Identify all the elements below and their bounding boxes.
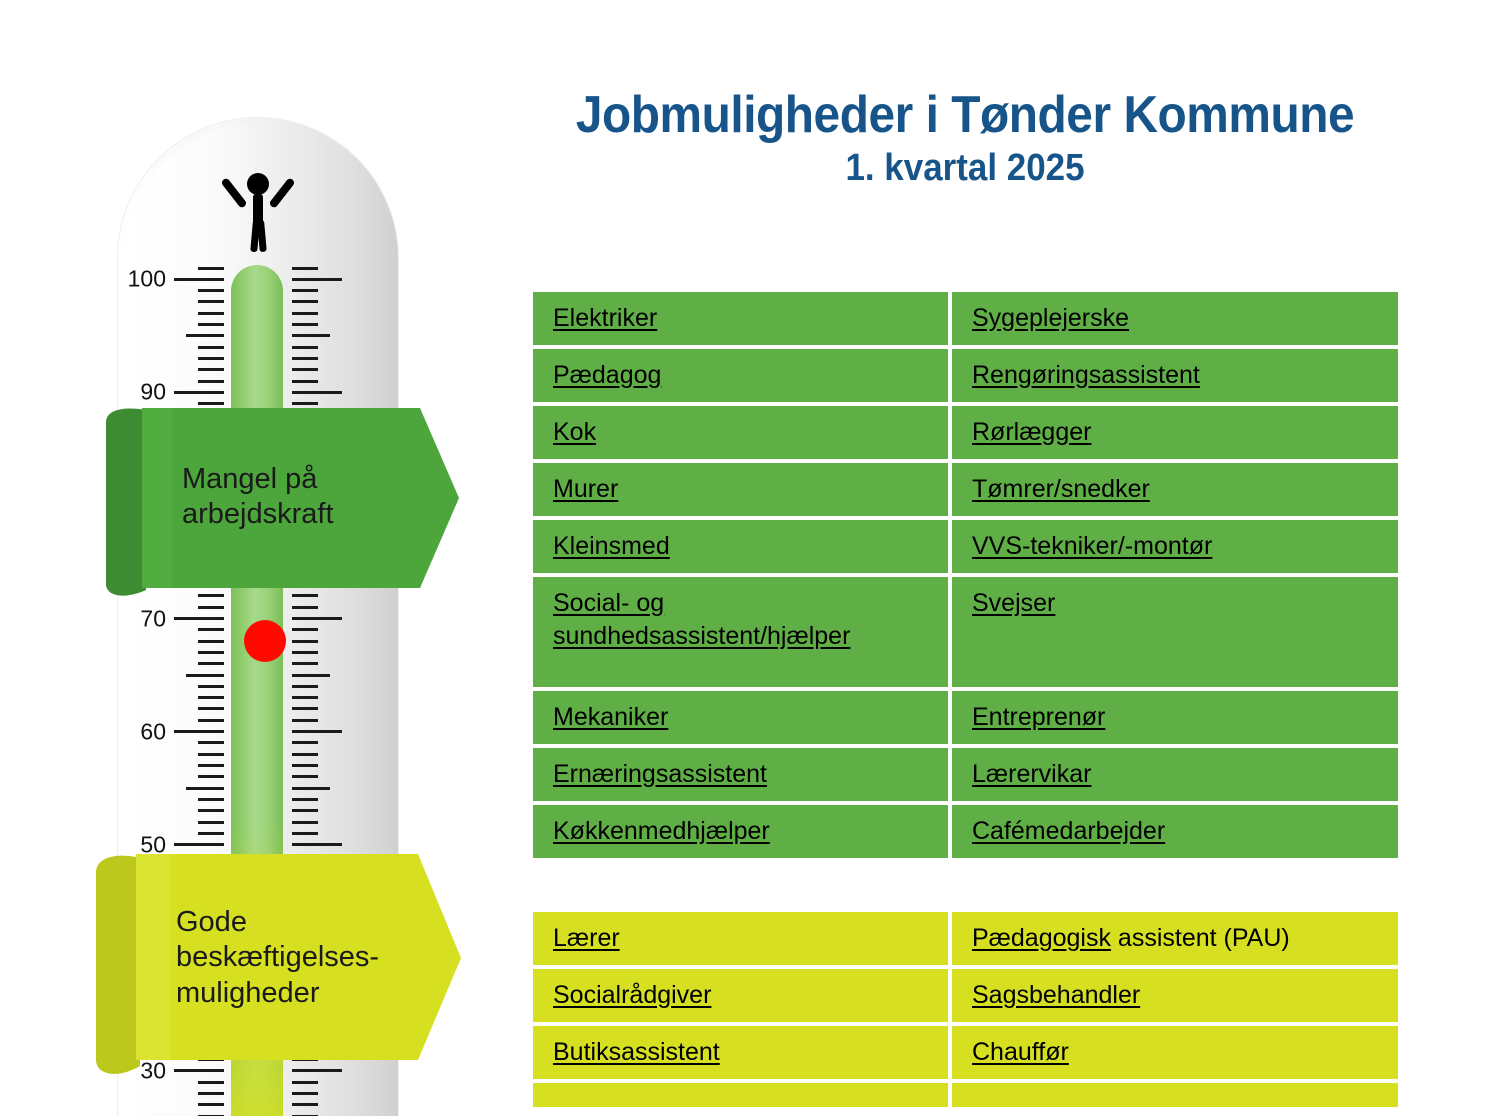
scale-tick <box>292 289 318 292</box>
scale-tick <box>292 696 318 699</box>
job-cell[interactable]: Ernæringsassistent <box>533 748 948 801</box>
scale-tick <box>198 832 224 835</box>
scale-tick <box>198 323 224 326</box>
banner-good-text: Gode beskæftigelses- muligheder <box>176 905 379 1011</box>
job-label-suffix: assistent (PAU) <box>1111 924 1290 952</box>
page-subtitle: 1. kvartal 2025 <box>556 149 1375 189</box>
scale-tick <box>198 809 224 812</box>
job-label: Ernæringsassistent <box>553 760 767 788</box>
job-label: Tømrer/snedker <box>972 475 1150 503</box>
job-cell[interactable]: Sygeplejerske <box>952 292 1398 345</box>
scale-tick <box>292 368 318 371</box>
scale-tick <box>198 628 224 631</box>
scale-tick <box>292 753 318 756</box>
table-row: MurerTømrer/snedker <box>533 463 1398 516</box>
scale-tick <box>198 380 224 383</box>
table-row: KleinsmedVVS-tekniker/-montør <box>533 520 1398 573</box>
job-cell[interactable]: Pædagogisk assistent (PAU) <box>952 912 1398 965</box>
scale-tick <box>292 278 342 281</box>
scale-tick <box>292 798 318 801</box>
job-cell[interactable]: Tømrer/snedker <box>952 463 1398 516</box>
poster-canvas: Jobmuligheder i Tønder Kommune 1. kvarta… <box>0 0 1500 1116</box>
scale-tick <box>198 662 224 665</box>
job-label: Entreprenør <box>972 703 1105 731</box>
scale-tick <box>292 707 318 710</box>
job-cell[interactable]: Lærervikar <box>952 748 1398 801</box>
job-label: Socialrådgiver <box>553 981 711 1009</box>
scale-tick <box>198 753 224 756</box>
job-cell[interactable]: Lærer <box>533 912 948 965</box>
job-cell[interactable]: Pædagog <box>533 349 948 402</box>
table-row: LærerPædagogisk assistent (PAU) <box>533 912 1398 965</box>
table-row: ErnæringsassistentLærervikar <box>533 748 1398 801</box>
job-label: Svejser <box>972 589 1055 617</box>
scale-tick <box>186 674 224 677</box>
job-cell[interactable]: Chauffør <box>952 1026 1398 1079</box>
scale-tick <box>292 651 318 654</box>
job-cell[interactable]: Sagsbehandler <box>952 969 1398 1022</box>
scale-tick <box>174 843 224 846</box>
scale-tick <box>292 334 330 337</box>
scale-tick <box>198 267 224 270</box>
scale-tick <box>198 707 224 710</box>
job-label: Rengøringsassistent <box>972 361 1200 389</box>
scale-tick <box>198 775 224 778</box>
scale-tick <box>292 764 318 767</box>
job-label: Sagsbehandler <box>972 981 1140 1009</box>
scale-label: 90 <box>140 379 166 406</box>
page-title: Jobmuligheder i Tønder Kommune <box>556 88 1375 143</box>
scale-tick <box>198 696 224 699</box>
job-label: Pædagogisk <box>972 924 1111 952</box>
job-cell[interactable]: VVS-tekniker/-montør <box>952 520 1398 573</box>
job-label: Kleinsmed <box>553 532 670 560</box>
scale-tick <box>292 640 318 643</box>
job-cell[interactable]: Rengøringsassistent <box>952 349 1398 402</box>
scale-tick <box>292 300 318 303</box>
banner-good-opportunities: Gode beskæftigelses- muligheder <box>92 848 464 1106</box>
table-row <box>533 1083 1398 1107</box>
title-block: Jobmuligheder i Tønder Kommune 1. kvarta… <box>520 88 1410 188</box>
scale-tick <box>292 730 342 733</box>
scale-tick <box>292 719 318 722</box>
scale-tick <box>198 368 224 371</box>
scale-tick <box>292 821 318 824</box>
scale-tick <box>174 278 224 281</box>
table-row: MekanikerEntreprenør <box>533 691 1398 744</box>
scale-tick <box>174 391 224 394</box>
scale-tick <box>198 798 224 801</box>
scale-tick <box>292 843 342 846</box>
scale-tick <box>198 651 224 654</box>
job-cell[interactable]: Elektriker <box>533 292 948 345</box>
job-label: Pædagog <box>553 361 661 389</box>
job-cell[interactable]: Kok <box>533 406 948 459</box>
scale-tick <box>198 300 224 303</box>
job-cell[interactable]: Cafémedarbejder <box>952 805 1398 858</box>
job-label: VVS-tekniker/-montør <box>972 532 1212 560</box>
job-cell[interactable]: Rørlægger <box>952 406 1398 459</box>
job-cell[interactable]: Svejser <box>952 577 1398 687</box>
scale-tick <box>292 628 318 631</box>
job-cell[interactable] <box>952 1083 1398 1107</box>
scale-tick <box>292 323 318 326</box>
job-cell[interactable]: Køkkenmedhjælper <box>533 805 948 858</box>
scale-tick <box>292 380 318 383</box>
scale-tick <box>198 289 224 292</box>
job-label: Elektriker <box>553 304 657 332</box>
scale-tick <box>292 267 318 270</box>
scale-tick <box>198 719 224 722</box>
scale-tick <box>198 346 224 349</box>
job-cell[interactable]: Murer <box>533 463 948 516</box>
scale-tick <box>292 832 318 835</box>
job-label: Kok <box>553 418 596 446</box>
current-value-marker <box>244 620 286 662</box>
table-row: Social- ogsundhedsassistent/hjælperSvejs… <box>533 577 1398 687</box>
job-cell[interactable] <box>533 1083 948 1107</box>
scale-tick <box>174 617 224 620</box>
scale-tick <box>198 357 224 360</box>
job-cell[interactable]: Socialrådgiver <box>533 969 948 1022</box>
scale-tick <box>292 674 330 677</box>
scale-tick <box>198 764 224 767</box>
scale-tick <box>198 821 224 824</box>
job-cell[interactable]: Mekaniker <box>533 691 948 744</box>
banner-shortage-text: Mangel på arbejdskraft <box>182 462 334 533</box>
scale-tick <box>292 787 330 790</box>
table-row: ElektrikerSygeplejerske <box>533 292 1398 345</box>
job-label: Lærer <box>553 924 620 952</box>
scale-tick <box>186 787 224 790</box>
scale-tick <box>174 730 224 733</box>
table-row: KøkkenmedhjælperCafémedarbejder <box>533 805 1398 858</box>
scale-tick <box>292 617 342 620</box>
job-label: Social- og <box>553 589 664 617</box>
scale-tick <box>292 391 342 394</box>
job-cell[interactable]: Entreprenør <box>952 691 1398 744</box>
scale-tick <box>292 775 318 778</box>
job-label: Cafémedarbejder <box>972 817 1165 845</box>
job-cell[interactable]: Kleinsmed <box>533 520 948 573</box>
table-good-opportunity-jobs: LærerPædagogisk assistent (PAU)Socialråd… <box>533 912 1398 1107</box>
job-cell[interactable]: Social- ogsundhedsassistent/hjælper <box>533 577 948 687</box>
scale-tick <box>292 809 318 812</box>
scale-tick <box>186 334 224 337</box>
table-row: PædagogRengøringsassistent <box>533 349 1398 402</box>
scale-label: 100 <box>128 266 166 293</box>
scale-tick <box>198 741 224 744</box>
scale-tick <box>292 741 318 744</box>
scale-tick <box>292 357 318 360</box>
job-label: Rørlægger <box>972 418 1091 446</box>
scale-tick <box>292 685 318 688</box>
job-label: Chauffør <box>972 1038 1069 1066</box>
table-row: SocialrådgiverSagsbehandler <box>533 969 1398 1022</box>
scale-tick <box>292 312 318 315</box>
job-cell[interactable]: Butiksassistent <box>533 1026 948 1079</box>
job-label: sundhedsassistent/hjælper <box>553 622 850 650</box>
banner-shortage: Mangel på arbejdskraft <box>102 404 462 616</box>
job-label: Sygeplejerske <box>972 304 1129 332</box>
table-row: KokRørlægger <box>533 406 1398 459</box>
scale-tick <box>198 685 224 688</box>
scale-tick <box>198 640 224 643</box>
table-row: ButiksassistentChauffør <box>533 1026 1398 1079</box>
table-shortage-jobs: ElektrikerSygeplejerskePædagogRengørings… <box>533 292 1398 858</box>
scale-tick <box>292 346 318 349</box>
job-label: Murer <box>553 475 618 503</box>
job-label: Lærervikar <box>972 760 1091 788</box>
job-label: Mekaniker <box>553 703 668 731</box>
job-label: Køkkenmedhjælper <box>553 817 770 845</box>
job-label: Butiksassistent <box>553 1038 720 1066</box>
scale-tick <box>198 312 224 315</box>
scale-label: 60 <box>140 718 166 745</box>
scale-tick <box>292 662 318 665</box>
